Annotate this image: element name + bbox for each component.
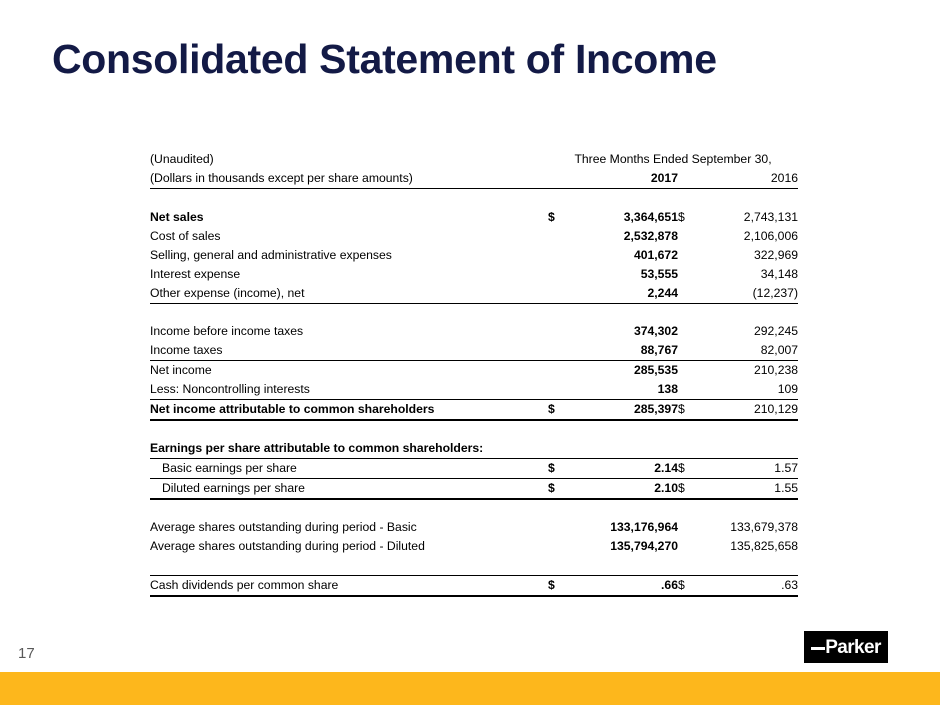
row-value-2017: 138	[570, 380, 678, 400]
row-currency-2017: $	[548, 400, 570, 421]
spacer	[150, 420, 798, 439]
parker-dash-icon	[811, 647, 825, 650]
row-value-2017: 285,397	[570, 400, 678, 421]
table-header-row-years: (Dollars in thousands except per share a…	[150, 169, 798, 189]
row-currency-2016	[678, 380, 700, 400]
row-value-2016: 1.55	[700, 479, 798, 500]
row-value-2016: 82,007	[700, 341, 798, 361]
row-value-2016: 2,106,006	[700, 227, 798, 246]
row-currency-2017: $	[548, 575, 570, 596]
unaudited-note: (Unaudited)	[150, 150, 548, 169]
period-span-label: Three Months Ended September 30,	[548, 150, 798, 169]
row-value-2017: 133,176,964	[570, 518, 678, 537]
header-spacer-cur2	[678, 169, 700, 189]
row-currency-2016	[678, 246, 700, 265]
row-value-2017: 285,535	[570, 361, 678, 381]
row-currency-2017	[548, 380, 570, 400]
row-currency-2016: $	[678, 479, 700, 500]
row-label: Net sales	[150, 208, 548, 227]
column-header-2017: 2017	[570, 169, 678, 189]
row-value-2017: 2,244	[570, 284, 678, 304]
table-row-income-before-taxes: Income before income taxes 374,302 292,2…	[150, 322, 798, 341]
row-currency-2016	[678, 518, 700, 537]
table-row-interest-expense: Interest expense 53,555 34,148	[150, 265, 798, 284]
parker-wordmark: Parker	[825, 638, 881, 657]
row-currency-2016	[678, 341, 700, 361]
table-row-cash-dividends: Cash dividends per common share $ .66 $ …	[150, 575, 798, 596]
row-value-2016: 292,245	[700, 322, 798, 341]
row-currency-2017	[548, 439, 570, 459]
row-currency-2017: $	[548, 459, 570, 479]
spacer	[150, 189, 798, 208]
row-currency-2016	[678, 439, 700, 459]
table-row-net-income-attributable: Net income attributable to common shareh…	[150, 400, 798, 421]
table-row-net-income: Net income 285,535 210,238	[150, 361, 798, 381]
row-value-2017: .66	[570, 575, 678, 596]
row-currency-2016: $	[678, 400, 700, 421]
accent-bar	[0, 672, 940, 705]
row-currency-2016: $	[678, 459, 700, 479]
row-value-2016: 2,743,131	[700, 208, 798, 227]
row-label: Net income	[150, 361, 548, 381]
row-label: Basic earnings per share	[150, 459, 548, 479]
row-value-2017: 88,767	[570, 341, 678, 361]
row-value-2017: 2,532,878	[570, 227, 678, 246]
row-label: Cash dividends per common share	[150, 575, 548, 596]
row-label: Income taxes	[150, 341, 548, 361]
row-value-2016: .63	[700, 575, 798, 596]
row-value-2017: 401,672	[570, 246, 678, 265]
row-value-2017: 2.10	[570, 479, 678, 500]
table-header-row-period: (Unaudited) Three Months Ended September…	[150, 150, 798, 169]
row-value-2017: 53,555	[570, 265, 678, 284]
row-currency-2016	[678, 265, 700, 284]
row-value-2016: 210,238	[700, 361, 798, 381]
table-row-eps-section-heading: Earnings per share attributable to commo…	[150, 439, 798, 459]
table-row-noncontrolling-interests: Less: Noncontrolling interests 138 109	[150, 380, 798, 400]
spacer	[150, 556, 798, 575]
row-label: Cost of sales	[150, 227, 548, 246]
row-currency-2017	[548, 265, 570, 284]
table-row-net-sales: Net sales $ 3,364,651 $ 2,743,131	[150, 208, 798, 227]
row-currency-2016	[678, 361, 700, 381]
column-header-2016: 2016	[700, 169, 798, 189]
row-currency-2017	[548, 537, 570, 556]
row-label: Net income attributable to common shareh…	[150, 400, 548, 421]
row-currency-2017	[548, 246, 570, 265]
row-value-2016: 1.57	[700, 459, 798, 479]
row-currency-2016: $	[678, 208, 700, 227]
spacer	[150, 499, 798, 518]
row-currency-2017	[548, 322, 570, 341]
row-label: Income before income taxes	[150, 322, 548, 341]
row-label: Earnings per share attributable to commo…	[150, 439, 548, 459]
income-statement-table: (Unaudited) Three Months Ended September…	[150, 150, 798, 597]
row-currency-2017	[548, 518, 570, 537]
parker-logo: Parker	[804, 631, 888, 663]
table-row-basic-eps: Basic earnings per share $ 2.14 $ 1.57	[150, 459, 798, 479]
page-title: Consolidated Statement of Income	[52, 36, 717, 83]
row-currency-2016	[678, 284, 700, 304]
row-value-2017	[570, 439, 678, 459]
row-currency-2017	[548, 341, 570, 361]
row-currency-2016	[678, 537, 700, 556]
row-label: Selling, general and administrative expe…	[150, 246, 548, 265]
table-row-avg-shares-basic: Average shares outstanding during period…	[150, 518, 798, 537]
row-currency-2017	[548, 284, 570, 304]
row-value-2017: 2.14	[570, 459, 678, 479]
row-value-2016	[700, 439, 798, 459]
row-value-2017: 3,364,651	[570, 208, 678, 227]
row-currency-2017	[548, 227, 570, 246]
row-currency-2016	[678, 322, 700, 341]
table-row-other-expense: Other expense (income), net 2,244 (12,23…	[150, 284, 798, 304]
row-value-2016: 133,679,378	[700, 518, 798, 537]
table-row-income-taxes: Income taxes 88,767 82,007	[150, 341, 798, 361]
row-value-2017: 374,302	[570, 322, 678, 341]
units-note: (Dollars in thousands except per share a…	[150, 169, 548, 189]
row-currency-2017: $	[548, 479, 570, 500]
row-currency-2016	[678, 227, 700, 246]
row-value-2017: 135,794,270	[570, 537, 678, 556]
row-currency-2016: $	[678, 575, 700, 596]
row-value-2016: 322,969	[700, 246, 798, 265]
row-value-2016: 109	[700, 380, 798, 400]
table-row-diluted-eps: Diluted earnings per share $ 2.10 $ 1.55	[150, 479, 798, 500]
row-label: Average shares outstanding during period…	[150, 518, 548, 537]
row-value-2016: 210,129	[700, 400, 798, 421]
row-value-2016: 34,148	[700, 265, 798, 284]
row-value-2016: (12,237)	[700, 284, 798, 304]
row-value-2016: 135,825,658	[700, 537, 798, 556]
page-number: 17	[18, 645, 35, 662]
spacer	[150, 303, 798, 322]
row-label: Diluted earnings per share	[150, 479, 548, 500]
table-row-cost-of-sales: Cost of sales 2,532,878 2,106,006	[150, 227, 798, 246]
row-label: Other expense (income), net	[150, 284, 548, 304]
table-row-avg-shares-diluted: Average shares outstanding during period…	[150, 537, 798, 556]
header-spacer-cur1	[548, 169, 570, 189]
row-label: Less: Noncontrolling interests	[150, 380, 548, 400]
row-currency-2017	[548, 361, 570, 381]
row-label: Interest expense	[150, 265, 548, 284]
row-currency-2017: $	[548, 208, 570, 227]
table-row-sga-expenses: Selling, general and administrative expe…	[150, 246, 798, 265]
row-label: Average shares outstanding during period…	[150, 537, 548, 556]
